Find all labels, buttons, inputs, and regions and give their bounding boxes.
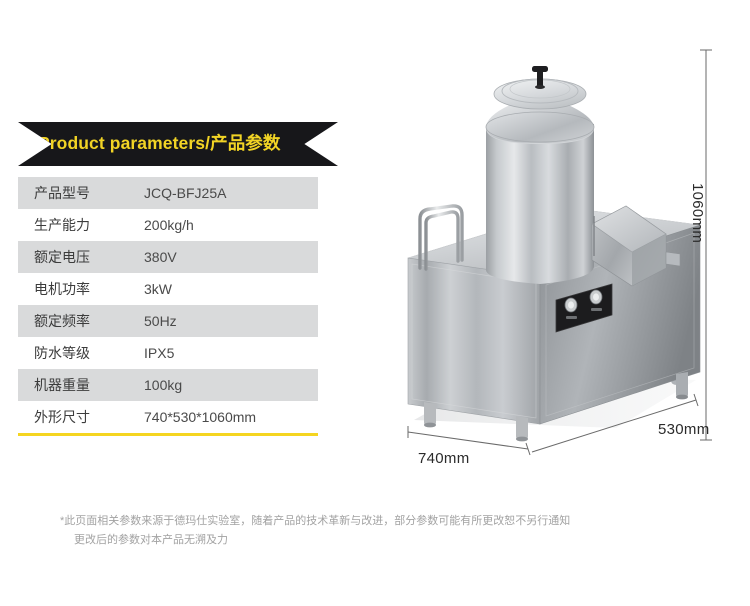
dimension-label-depth: 530mm: [658, 421, 710, 438]
cabinet-front-panel: [408, 258, 540, 424]
footer-line-1: *此页面相关参数来源于德玛仕实验室，随着产品的技术革新与改进，部分参数可能有所更…: [60, 515, 570, 527]
table-row: 电机功率 3kW: [18, 273, 318, 305]
spec-value: 200kg/h: [130, 217, 318, 233]
footer-disclaimer: *此页面相关参数来源于德玛仕实验室，随着产品的技术革新与改进，部分参数可能有所更…: [60, 512, 700, 551]
product-parameters-page: Product parameters/产品参数 产品型号 JCQ-BFJ25A …: [0, 0, 750, 606]
spec-label: 电机功率: [18, 279, 130, 299]
spec-value: 50Hz: [130, 313, 318, 329]
stop-button: [590, 290, 602, 304]
spec-table: 产品型号 JCQ-BFJ25A 生产能力 200kg/h 额定电压 380V 电…: [18, 177, 318, 433]
table-row: 额定频率 50Hz: [18, 305, 318, 337]
spec-label: 生产能力: [18, 215, 130, 235]
spec-label: 额定频率: [18, 311, 130, 331]
table-row: 防水等级 IPX5: [18, 337, 318, 369]
table-row: 生产能力 200kg/h: [18, 209, 318, 241]
table-row: 外形尺寸 740*530*1060mm: [18, 401, 318, 433]
spec-value: 3kW: [130, 281, 318, 297]
product-photo: [380, 28, 720, 478]
table-accent-underline: [18, 433, 318, 436]
banner-title: Product parameters/产品参数: [38, 135, 281, 153]
footer-line-2: 更改后的参数对本产品无溯及力: [60, 531, 700, 550]
table-row: 产品型号 JCQ-BFJ25A: [18, 177, 318, 209]
table-row: 额定电压 380V: [18, 241, 318, 273]
spec-value: 740*530*1060mm: [130, 409, 318, 425]
spec-label: 产品型号: [18, 183, 130, 203]
table-row: 机器重量 100kg: [18, 369, 318, 401]
spec-value: IPX5: [130, 345, 318, 361]
dimension-label-width: 740mm: [418, 450, 470, 467]
dimension-label-height: 1060mm: [689, 183, 706, 243]
spec-label: 防水等级: [18, 343, 130, 363]
section-banner: Product parameters/产品参数: [18, 122, 338, 166]
start-button: [565, 298, 577, 312]
spec-label: 外形尺寸: [18, 407, 130, 427]
spec-label: 额定电压: [18, 247, 130, 267]
spec-value: 380V: [130, 249, 318, 265]
spec-value: JCQ-BFJ25A: [130, 185, 318, 201]
spec-value: 100kg: [130, 377, 318, 393]
spec-label: 机器重量: [18, 375, 130, 395]
